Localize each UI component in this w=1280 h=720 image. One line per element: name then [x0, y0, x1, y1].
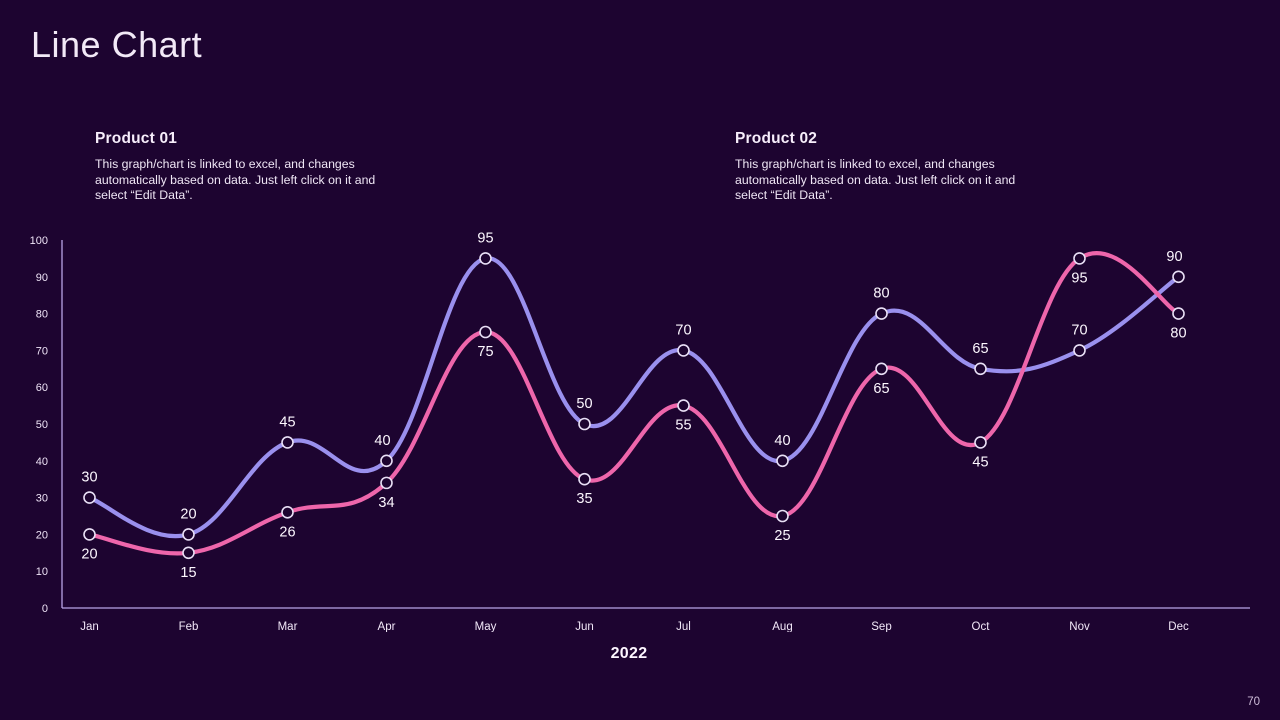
data-value-label: 90 — [1166, 249, 1182, 265]
y-tick-label: 70 — [36, 345, 48, 357]
chart-canvas: 0102030405060708090100 30204540955070408… — [0, 232, 1280, 632]
data-value-label: 65 — [873, 381, 889, 397]
data-value-label: 95 — [477, 232, 493, 246]
series-lines — [90, 253, 1179, 553]
legend-product-02: Product 02 This graph/chart is linked to… — [735, 130, 1035, 204]
data-point-marker[interactable] — [480, 327, 491, 338]
y-tick-label: 10 — [36, 566, 48, 578]
y-tick-label: 90 — [36, 272, 48, 284]
y-tick-label: 30 — [36, 493, 48, 505]
data-point-marker[interactable] — [381, 477, 392, 488]
data-value-label: 45 — [279, 414, 295, 430]
data-point-marker[interactable] — [1074, 345, 1085, 356]
data-value-label: 75 — [477, 344, 493, 360]
data-value-labels: 3020454095507040806570902015263475355525… — [81, 232, 1186, 581]
x-tick-label: Apr — [378, 621, 396, 632]
data-point-marker[interactable] — [876, 308, 887, 319]
data-point-marker[interactable] — [777, 511, 788, 522]
data-value-label: 26 — [279, 524, 295, 540]
legend-product-01-description: This graph/chart is linked to excel, and… — [95, 157, 395, 204]
data-value-label: 25 — [774, 528, 790, 544]
x-tick-label: Aug — [772, 621, 792, 632]
data-value-label: 15 — [180, 565, 196, 581]
y-axis-tick-labels: 0102030405060708090100 — [30, 235, 48, 615]
legend-product-02-description: This graph/chart is linked to excel, and… — [735, 157, 1035, 204]
data-point-marker[interactable] — [975, 437, 986, 448]
y-tick-label: 40 — [36, 456, 48, 468]
y-tick-label: 80 — [36, 309, 48, 321]
data-point-marker[interactable] — [777, 455, 788, 466]
x-axis-tick-labels: JanFebMarAprMayJunJulAugSepOctNovDec — [80, 621, 1189, 632]
x-tick-label: Mar — [278, 621, 298, 632]
x-tick-label: Dec — [1168, 621, 1189, 632]
data-point-marker[interactable] — [1074, 253, 1085, 264]
x-tick-label: Feb — [179, 621, 199, 632]
x-tick-label: Jul — [676, 621, 691, 632]
data-value-label: 40 — [774, 433, 790, 449]
line-series-1 — [90, 258, 1179, 536]
data-point-marker[interactable] — [678, 400, 689, 411]
data-value-label: 35 — [576, 491, 592, 507]
axis-lines — [62, 240, 1250, 608]
data-value-label: 20 — [81, 546, 97, 562]
legend-product-02-title: Product 02 — [735, 130, 1035, 148]
data-value-label: 70 — [675, 322, 691, 338]
data-point-marker[interactable] — [381, 455, 392, 466]
page-number: 70 — [1247, 696, 1260, 708]
x-tick-label: Sep — [871, 621, 891, 632]
x-tick-label: Jan — [80, 621, 99, 632]
data-value-label: 20 — [180, 506, 196, 522]
data-point-marker[interactable] — [84, 529, 95, 540]
data-value-label: 34 — [378, 495, 394, 511]
data-point-marker[interactable] — [579, 419, 590, 430]
data-point-marker[interactable] — [1173, 308, 1184, 319]
data-value-label: 80 — [873, 286, 889, 302]
y-tick-label: 0 — [42, 603, 48, 615]
data-value-label: 30 — [81, 470, 97, 486]
data-point-marker[interactable] — [183, 547, 194, 558]
y-tick-label: 100 — [30, 235, 48, 247]
data-point-marker[interactable] — [282, 507, 293, 518]
data-value-label: 65 — [972, 341, 988, 357]
data-value-label: 50 — [576, 396, 592, 412]
slide-root: Line Chart Product 01 This graph/chart i… — [0, 0, 1280, 720]
data-value-label: 80 — [1170, 326, 1186, 342]
data-point-marker[interactable] — [1173, 271, 1184, 282]
data-point-marker[interactable] — [84, 492, 95, 503]
data-value-label: 95 — [1071, 270, 1087, 286]
legend-product-01-title: Product 01 — [95, 130, 395, 148]
y-tick-label: 20 — [36, 529, 48, 541]
data-value-label: 40 — [374, 433, 390, 449]
x-tick-label: May — [475, 621, 497, 632]
data-point-marker[interactable] — [678, 345, 689, 356]
data-value-label: 70 — [1071, 322, 1087, 338]
data-point-marker[interactable] — [480, 253, 491, 264]
page-title: Line Chart — [31, 24, 202, 66]
y-tick-label: 50 — [36, 419, 48, 431]
x-axis-title: 2022 — [0, 645, 1258, 663]
data-point-marker[interactable] — [876, 363, 887, 374]
line-series-2 — [90, 253, 1179, 553]
line-chart[interactable]: 0102030405060708090100 30204540955070408… — [0, 232, 1280, 632]
data-point-marker[interactable] — [975, 363, 986, 374]
data-point-marker[interactable] — [183, 529, 194, 540]
data-point-marker[interactable] — [282, 437, 293, 448]
x-tick-label: Oct — [972, 621, 991, 632]
x-tick-label: Jun — [575, 621, 594, 632]
legend-product-01: Product 01 This graph/chart is linked to… — [95, 130, 395, 204]
x-tick-label: Nov — [1069, 621, 1090, 632]
data-value-label: 45 — [972, 454, 988, 470]
data-value-label: 55 — [675, 418, 691, 434]
data-point-marker[interactable] — [579, 474, 590, 485]
series-markers[interactable] — [84, 253, 1184, 558]
y-tick-label: 60 — [36, 382, 48, 394]
